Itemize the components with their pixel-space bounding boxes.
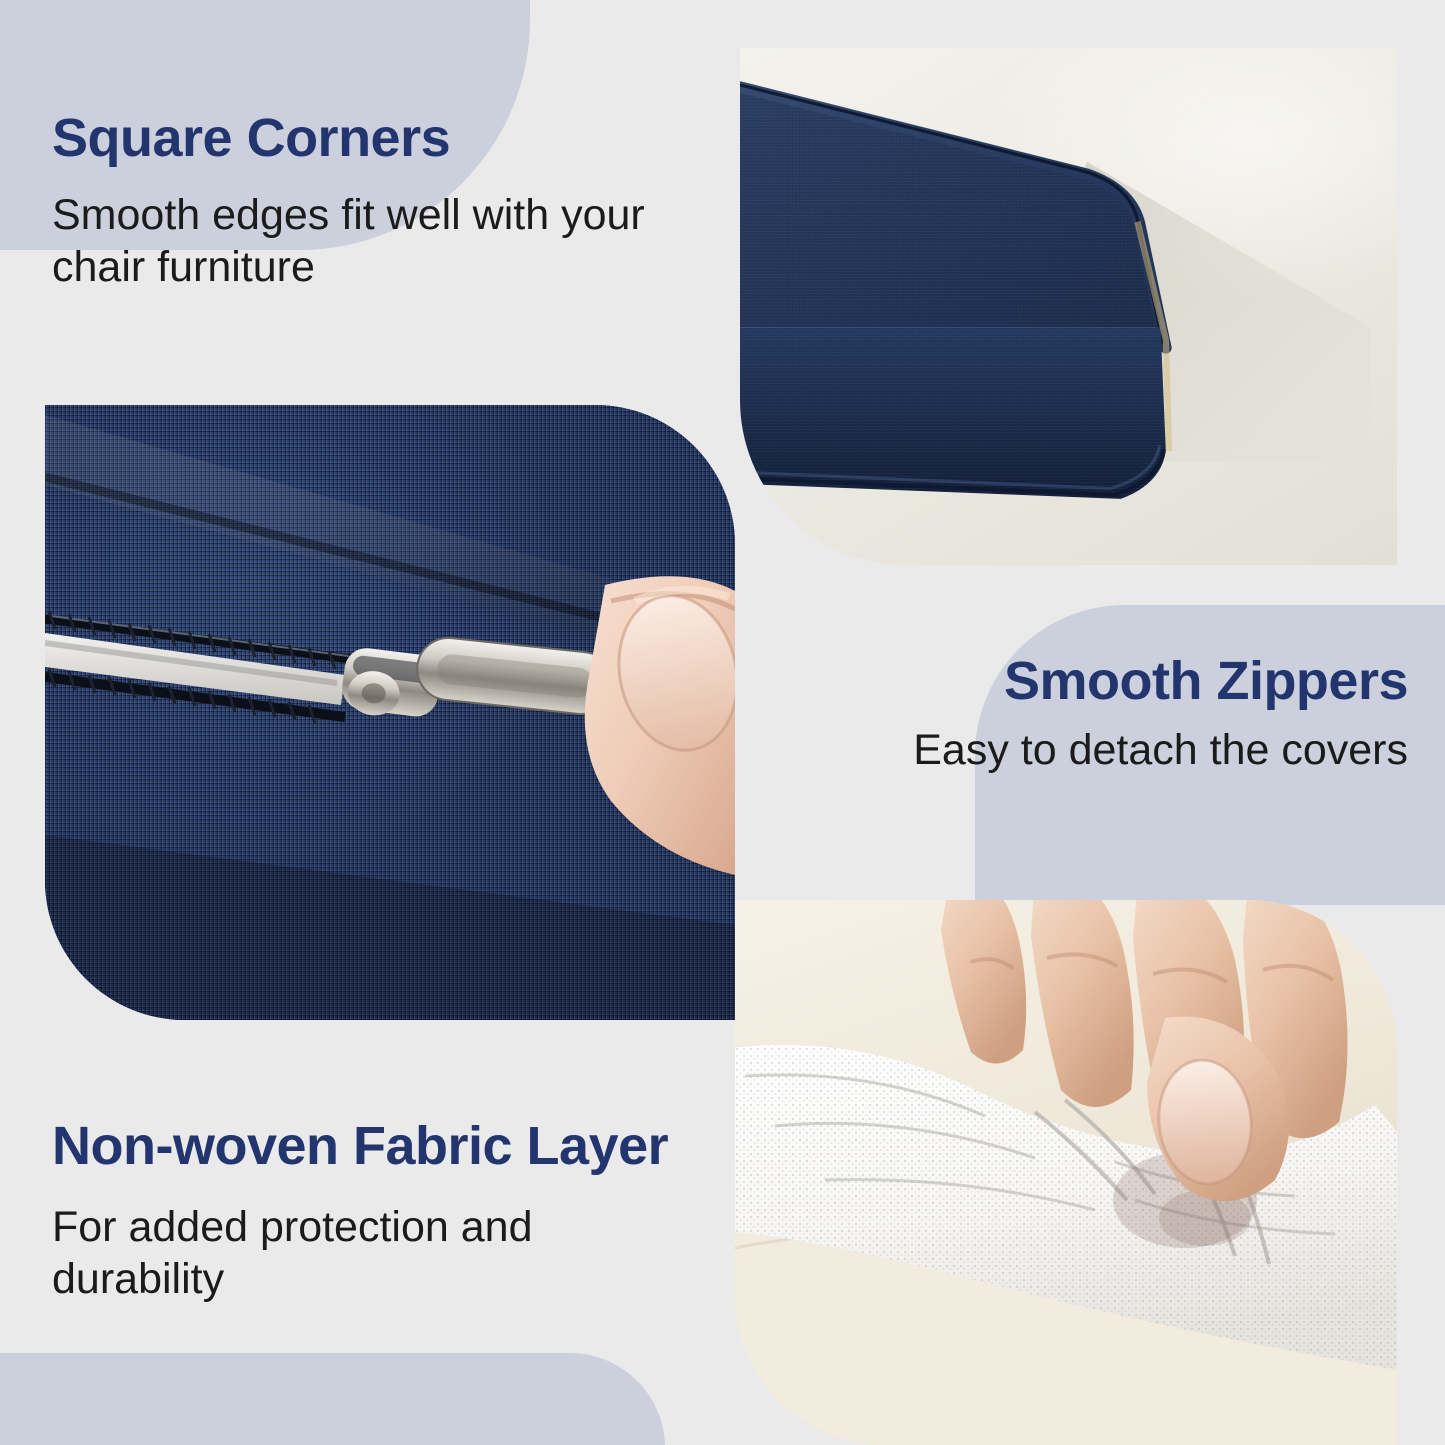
feature-text-square-corners: Square Corners Smooth edges fit well wit…: [52, 110, 742, 294]
non-woven-fabric-heading: Non-woven Fabric Layer: [52, 1118, 692, 1175]
smooth-zippers-heading: Smooth Zippers: [913, 653, 1408, 710]
decorative-blob-bottom-left: [0, 1353, 665, 1445]
cushion-illustration: [740, 48, 1371, 565]
square-corners-subtext: Smooth edges fit well with your chair fu…: [52, 189, 742, 294]
non-woven-fabric-subtext: For added protection and durability: [52, 1201, 692, 1306]
feature-text-non-woven-fabric: Non-woven Fabric Layer For added protect…: [52, 1118, 692, 1306]
fabric-illustration: [735, 900, 1397, 1445]
smooth-zippers-subtext: Easy to detach the covers: [913, 724, 1408, 776]
infographic-canvas: Square Corners Smooth edges fit well wit…: [0, 0, 1445, 1445]
zipper-photo: [45, 405, 735, 1020]
square-corners-heading: Square Corners: [52, 110, 742, 167]
square-corner-photo: [740, 48, 1397, 565]
zipper-illustration: [45, 405, 735, 1020]
non-woven-fabric-photo: [735, 900, 1397, 1445]
feature-text-smooth-zippers: Smooth Zippers Easy to detach the covers: [913, 653, 1408, 776]
